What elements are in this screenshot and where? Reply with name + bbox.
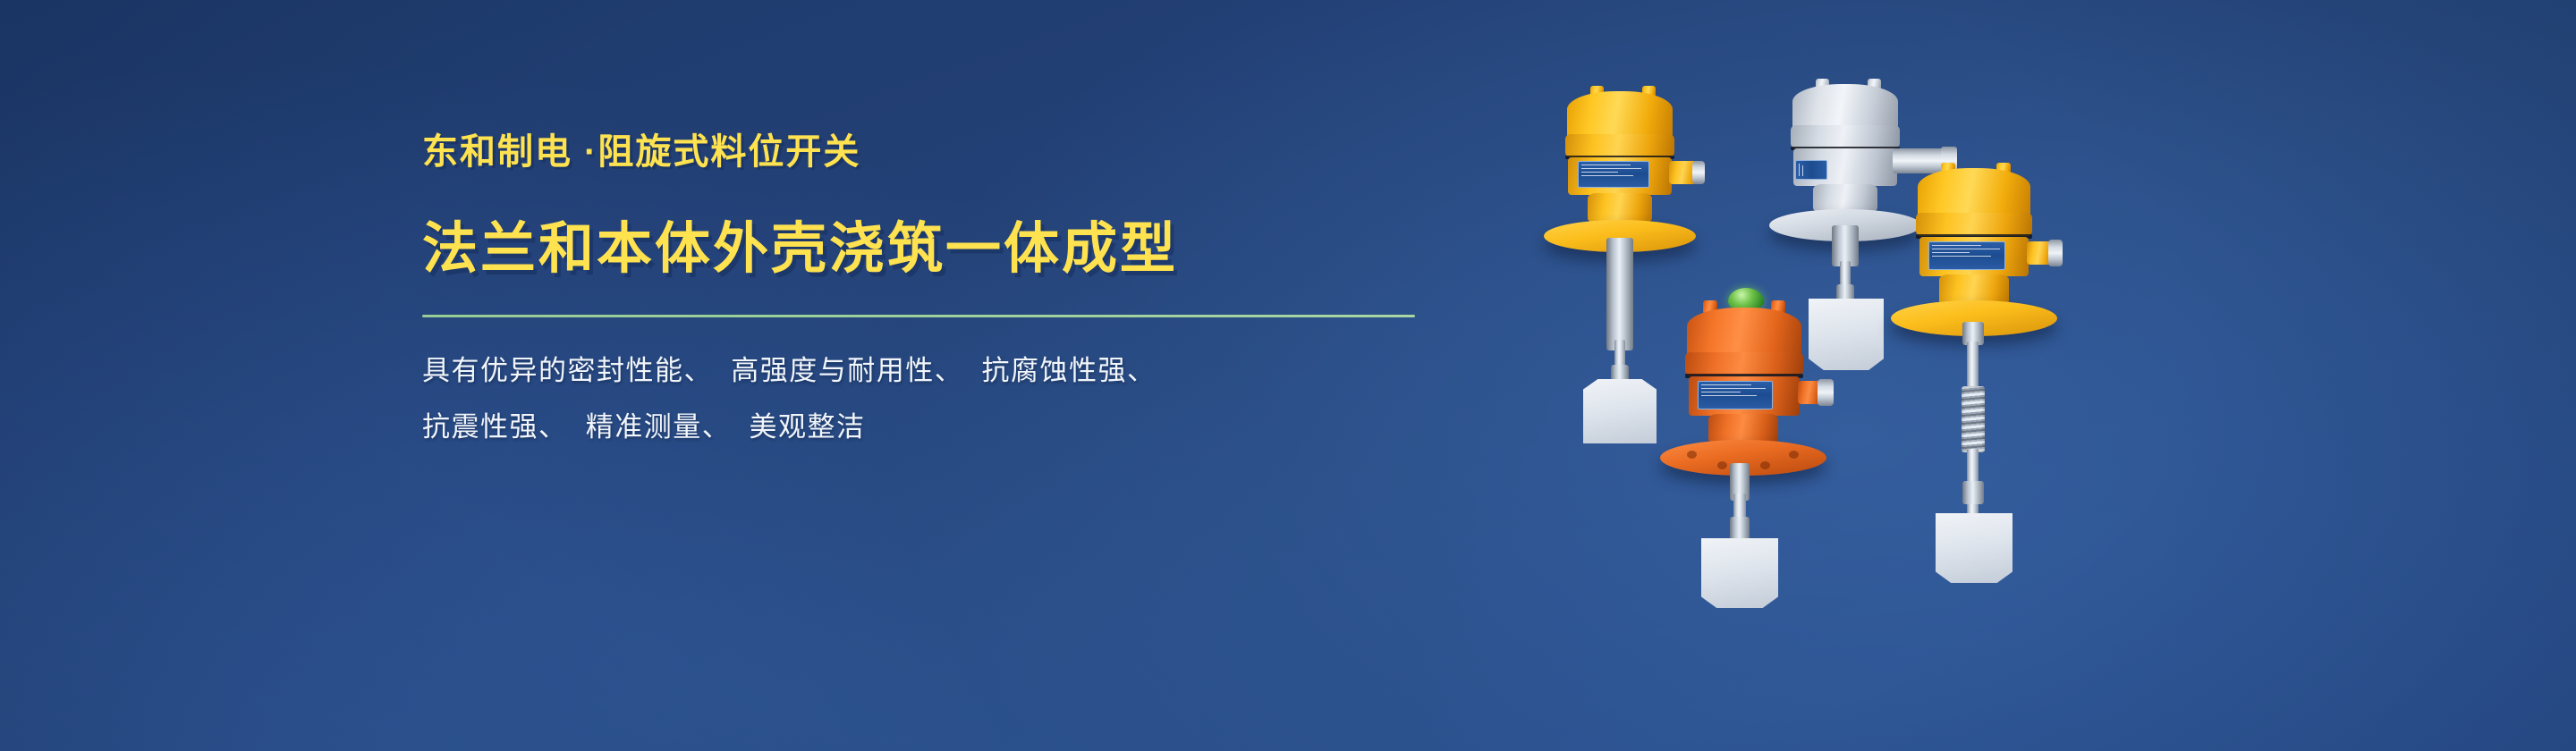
banner-copy-block: 东和制电 ·阻旋式料位开关 法兰和本体外壳浇筑一体成型 具有优异的密封性能、 高…	[422, 134, 1460, 441]
flange-bolt-hole-3	[1717, 461, 1727, 469]
paddle-coupling	[1730, 517, 1750, 540]
product-rotary-paddle-level-switch-yellow-extended	[1885, 152, 2136, 671]
headline-divider	[422, 315, 1415, 317]
product-hero-banner: 东和制电 ·阻旋式料位开关 法兰和本体外壳浇筑一体成型 具有优异的密封性能、 高…	[0, 0, 2576, 751]
flange-bolt-hole-2	[1789, 451, 1799, 459]
product-nameplate	[1698, 381, 1773, 409]
housing-collar	[1565, 134, 1674, 157]
shaft-sleeve	[1606, 238, 1633, 350]
conduit-gland-nut	[2048, 240, 2063, 266]
housing-collar	[1916, 213, 2032, 236]
banner-eyebrow: 东和制电 ·阻旋式料位开关	[422, 134, 1460, 170]
paddle-coupling	[1962, 481, 1984, 504]
flange-bolt-hole-4	[1760, 461, 1770, 469]
product-nameplate	[1795, 160, 1827, 180]
conduit-gland-nut	[1692, 161, 1705, 184]
housing-collar	[1685, 352, 1803, 375]
product-rotary-paddle-level-switch-orange	[1657, 277, 1889, 653]
banner-body-line-2: 抗震性强、 精准测量、 美观整洁	[422, 413, 1460, 441]
shaft-spring-section	[1962, 386, 1985, 452]
housing-collar	[1791, 125, 1900, 148]
conduit-gland-nut	[1818, 379, 1834, 406]
banner-body-text: 具有优异的密封性能、 高强度与耐用性、 抗腐蚀性强、 抗震性强、 精准测量、 美…	[422, 357, 1460, 441]
product-nameplate	[1578, 161, 1649, 188]
flange-bolt-hole-1	[1687, 451, 1697, 459]
measuring-paddle	[1583, 379, 1657, 443]
measuring-paddle	[1936, 513, 2012, 583]
measuring-paddle	[1701, 538, 1778, 608]
product-nameplate	[1928, 241, 2005, 270]
product-image-group	[1485, 54, 2540, 697]
banner-headline: 法兰和本体外壳浇筑一体成型	[422, 170, 1460, 277]
banner-body-line-1: 具有优异的密封性能、 高强度与耐用性、 抗腐蚀性强、	[422, 357, 1460, 384]
